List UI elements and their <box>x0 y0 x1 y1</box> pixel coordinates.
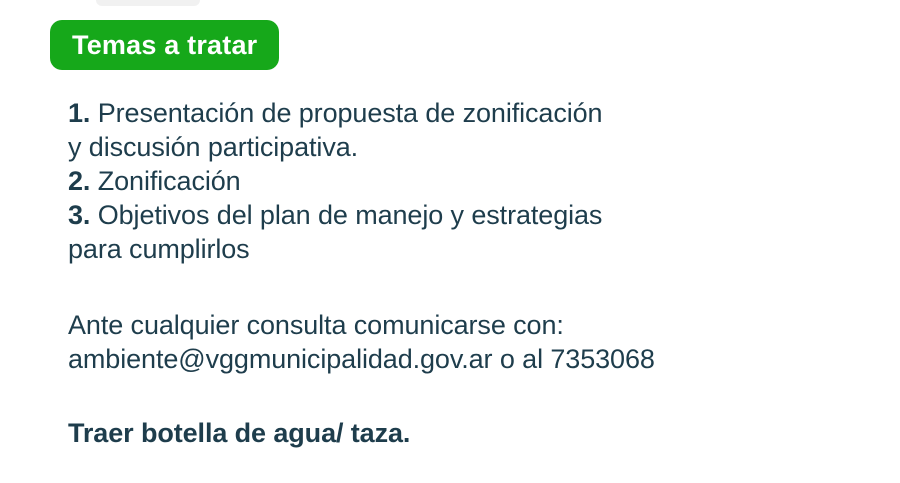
section-title-label: Temas a tratar <box>72 32 257 59</box>
agenda-item-number: 3. <box>68 200 90 230</box>
poster-content: 1. Presentación de propuesta de zonifica… <box>68 96 878 450</box>
agenda-item: 1. Presentación de propuesta de zonifica… <box>68 96 878 164</box>
agenda-item-text: Presentación de propuesta de zonificació… <box>68 98 602 162</box>
agenda-item-number: 2. <box>68 166 90 196</box>
agenda-item-number: 1. <box>68 98 90 128</box>
contact-intro-text: Ante cualquier consulta comunicarse con: <box>68 308 878 342</box>
agenda-item: 3. Objetivos del plan de manejo y estrat… <box>68 198 878 266</box>
contact-details-text: ambiente@vggmunicipalidad.gov.ar o al 73… <box>68 342 878 376</box>
agenda-item-text: Objetivos del plan de manejo y estrategi… <box>68 200 602 264</box>
contact-block: Ante cualquier consulta comunicarse con:… <box>68 308 878 376</box>
poster-canvas: Temas a tratar 1. Presentación de propue… <box>0 0 900 483</box>
agenda-item-text: Zonificación <box>90 166 240 196</box>
section-title-badge: Temas a tratar <box>50 20 279 70</box>
faint-gray-bar <box>96 0 200 6</box>
agenda-item: 2. Zonificación <box>68 164 878 198</box>
corner-decoration-group <box>640 0 900 80</box>
agenda-list: 1. Presentación de propuesta de zonifica… <box>68 96 878 266</box>
bring-items-note: Traer botella de agua/ taza. <box>68 416 878 450</box>
